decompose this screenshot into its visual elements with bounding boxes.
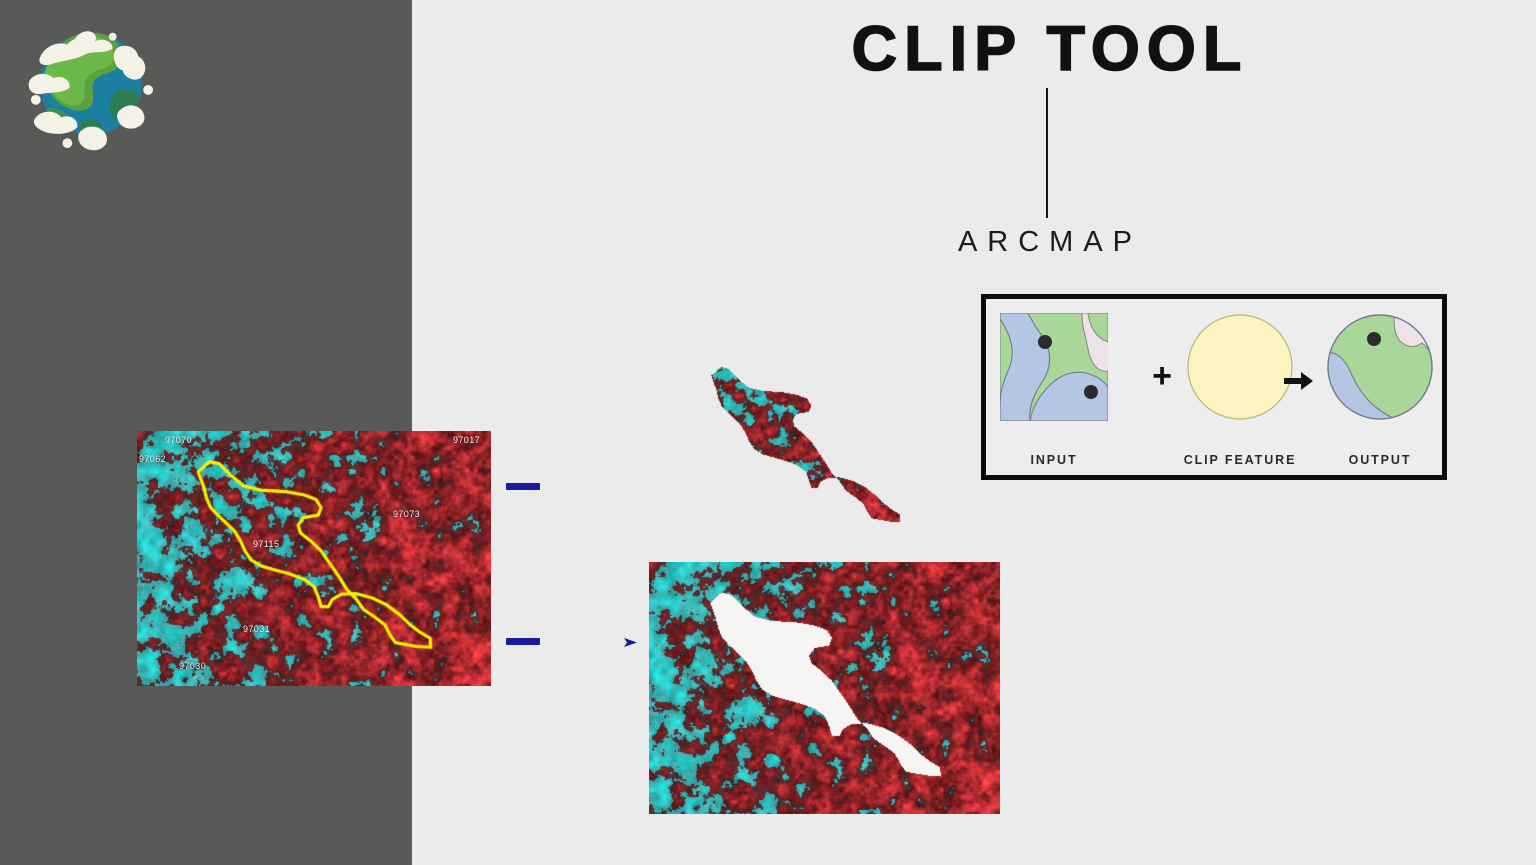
diagram-caption-clip-feature: CLIP FEATURE [1164, 453, 1316, 467]
slide-canvas: CLIP TOOL ARCMAP INPUT + [0, 0, 1536, 865]
page-subtitle: ARCMAP [840, 226, 1260, 259]
clip-tool-diagram: INPUT + CLIP FEATURE [981, 294, 1447, 480]
diagram-clip-feature-graphic [1186, 313, 1294, 426]
erase-output-raster [649, 562, 1000, 814]
plus-icon: + [1149, 365, 1175, 391]
diagram-caption-input: INPUT [1000, 453, 1108, 467]
arrowhead-to-erase-output [624, 636, 638, 649]
arrow-to-clip-output [506, 483, 540, 490]
diagram-input-graphic [1000, 313, 1108, 426]
page-title: CLIP TOOL [760, 16, 1340, 82]
globe-icon [22, 14, 160, 154]
arrow-to-erase-output [506, 638, 540, 645]
arrow-right-icon [1284, 371, 1314, 391]
clip-output-raster [661, 341, 949, 554]
diagram-output-graphic [1326, 313, 1434, 426]
input-satellite-raster: 97070 97062 97017 97073 97115 97031 9703… [137, 431, 491, 686]
diagram-caption-output: OUTPUT [1314, 453, 1446, 467]
title-divider-line [1046, 88, 1048, 218]
